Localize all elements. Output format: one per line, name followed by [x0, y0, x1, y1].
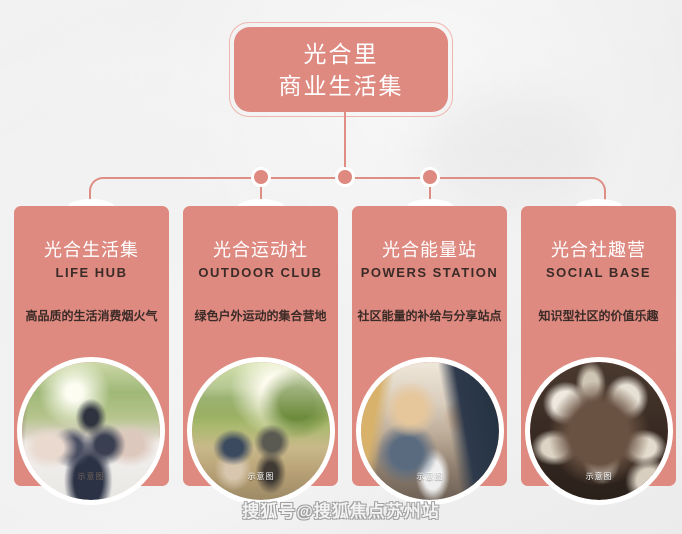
- card-heading-4: 光合社趣营 SOCIAL BASE: [521, 238, 676, 284]
- card-photo-powers-station: 示意图: [356, 357, 504, 505]
- photo-frame-4: 示意图: [530, 362, 668, 500]
- card-description-3: 社区能量的补给与分享站点: [352, 308, 507, 324]
- infographic-canvas: 光合里 商业生活集 光合生活集 LIFE HUB 高品质的生活消费烟火气 示意图…: [0, 0, 682, 534]
- photo-note-1: 示意图: [22, 471, 160, 482]
- photo-note-3: 示意图: [361, 471, 499, 482]
- card-description-2: 绿色户外运动的集合营地: [183, 308, 338, 324]
- photo-frame-1: 示意图: [22, 362, 160, 500]
- connector-node-right: [420, 167, 440, 187]
- card-photo-life-hub: 示意图: [17, 357, 165, 505]
- card-cn-title-4: 光合社趣营: [521, 238, 676, 262]
- card-heading-3: 光合能量站 POWERS STATION: [352, 238, 507, 284]
- photo-note-4: 示意图: [530, 471, 668, 482]
- card-heading-1: 光合生活集 LIFE HUB: [14, 238, 169, 284]
- photo-frame-3: 示意图: [361, 362, 499, 500]
- card-photo-outdoor-club: 示意图: [187, 357, 335, 505]
- background-blur-shape-left: [60, 30, 260, 120]
- card-en-title-1: LIFE HUB: [14, 262, 169, 284]
- card-cn-title-1: 光合生活集: [14, 238, 169, 262]
- title-card: 光合里 商业生活集: [234, 27, 448, 112]
- card-en-title-4: SOCIAL BASE: [521, 262, 676, 284]
- card-description-4: 知识型社区的价值乐趣: [521, 308, 676, 324]
- card-description-1: 高品质的生活消费烟火气: [14, 308, 169, 324]
- card-en-title-2: OUTDOOR CLUB: [183, 262, 338, 284]
- card-cn-title-3: 光合能量站: [352, 238, 507, 262]
- card-photo-social-base: 示意图: [525, 357, 673, 505]
- photo-note-2: 示意图: [192, 471, 330, 482]
- source-watermark: 搜狐号@搜狐焦点苏州站: [0, 497, 682, 522]
- card-en-title-3: POWERS STATION: [352, 262, 507, 284]
- connector-node-left: [251, 167, 271, 187]
- connector-node-center: [335, 167, 355, 187]
- card-heading-2: 光合运动社 OUTDOOR CLUB: [183, 238, 338, 284]
- title-line-1: 光合里: [304, 38, 379, 70]
- card-cn-title-2: 光合运动社: [183, 238, 338, 262]
- photo-frame-2: 示意图: [192, 362, 330, 500]
- title-line-2: 商业生活集: [279, 70, 404, 102]
